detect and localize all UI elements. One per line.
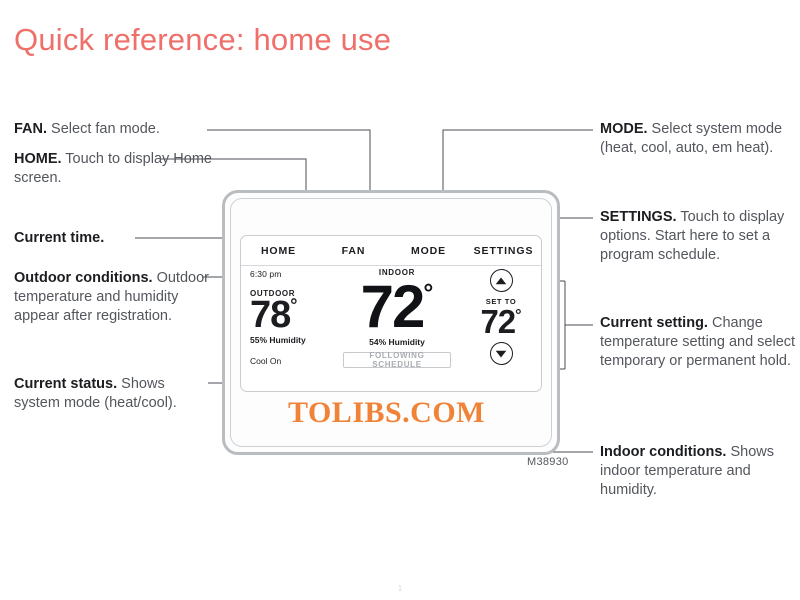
- model-number: M38930: [527, 456, 569, 468]
- outdoor-humidity: 55% Humidity: [250, 335, 336, 345]
- degree-icon: °: [515, 307, 521, 324]
- outdoor-panel: 6:30 pm OUTDOOR 78° 55% Humidity Cool On: [250, 269, 336, 366]
- callout-fan: FAN. Select fan mode.: [14, 120, 229, 139]
- callout-mode: MODE. Select system mode (heat, cool, au…: [600, 120, 800, 158]
- degree-icon: °: [290, 295, 297, 315]
- callout-current-setting-lead: Current setting.: [600, 315, 708, 331]
- degree-icon: °: [423, 279, 433, 307]
- callout-current-status-lead: Current status.: [14, 376, 117, 392]
- nav-button-home[interactable]: HOME: [241, 245, 316, 257]
- indoor-panel: INDOOR 72° 54% Humidity FOLLOWING SCHEDU…: [333, 268, 461, 368]
- callout-fan-lead: FAN.: [14, 121, 47, 137]
- callout-home-lead: HOME.: [14, 151, 62, 167]
- chevron-down-glyph: [495, 350, 507, 358]
- setpoint-temperature: 72°: [459, 305, 542, 338]
- schedule-status-chip[interactable]: FOLLOWING SCHEDULE: [343, 352, 451, 368]
- callout-fan-body: Select fan mode.: [47, 121, 160, 137]
- callout-current-time-lead: Current time.: [14, 230, 104, 246]
- watermark: TOLIBS.COM: [288, 396, 485, 430]
- chevron-up-icon[interactable]: [490, 269, 513, 292]
- nav-button-settings[interactable]: SETTINGS: [466, 245, 541, 257]
- callout-outdoor-conditions: Outdoor conditions. Outdoor temperature …: [14, 269, 209, 326]
- nav-button-fan[interactable]: FAN: [316, 245, 391, 257]
- indoor-humidity: 54% Humidity: [333, 337, 461, 347]
- indoor-temperature-value: 72: [361, 273, 424, 340]
- callout-settings: SETTINGS. Touch to display options. Star…: [600, 208, 798, 265]
- callout-mode-lead: MODE.: [600, 121, 648, 137]
- chevron-down-icon[interactable]: [490, 342, 513, 365]
- setpoint-panel: SET TO 72°: [459, 268, 542, 365]
- indoor-temperature: 72°: [333, 279, 461, 334]
- chevron-up-glyph: [495, 277, 507, 285]
- callout-home: HOME. Touch to display Home screen.: [14, 150, 214, 188]
- callout-settings-lead: SETTINGS.: [600, 209, 677, 225]
- thermostat-screen: HOME FAN MODE SETTINGS 6:30 pm OUTDOOR 7…: [240, 235, 542, 392]
- current-time-value: 6:30 pm: [250, 269, 336, 279]
- thermostat-screen-body: 6:30 pm OUTDOOR 78° 55% Humidity Cool On…: [241, 266, 541, 392]
- outdoor-temperature-value: 78: [250, 294, 290, 336]
- thermostat-navbar: HOME FAN MODE SETTINGS: [241, 236, 541, 266]
- callout-current-time: Current time.: [14, 229, 214, 248]
- callout-indoor-conditions: Indoor conditions. Shows indoor temperat…: [600, 443, 796, 500]
- nav-button-mode[interactable]: MODE: [391, 245, 466, 257]
- setpoint-temperature-value: 72: [480, 303, 515, 340]
- callout-indoor-lead: Indoor conditions.: [600, 444, 726, 460]
- callout-current-setting: Current setting. Change temperature sett…: [600, 314, 796, 371]
- callout-current-status: Current status. Shows system mode (heat/…: [14, 375, 209, 413]
- page-number: 1: [0, 584, 800, 593]
- system-status: Cool On: [250, 356, 336, 366]
- callout-outdoor-lead: Outdoor conditions.: [14, 270, 153, 286]
- outdoor-temperature: 78°: [250, 297, 336, 334]
- page-title: Quick reference: home use: [14, 22, 391, 58]
